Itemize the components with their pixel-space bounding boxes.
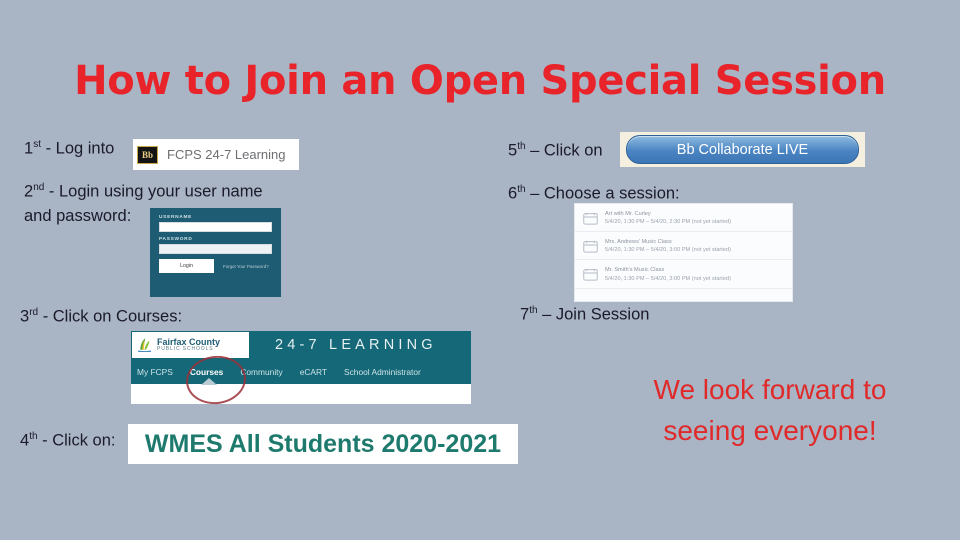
step-2-label-line2: and password: xyxy=(24,207,131,226)
bb-collaborate-live-button[interactable]: Bb Collaborate LIVE xyxy=(626,135,859,164)
step-7-suffix: th xyxy=(529,305,537,316)
nav-item-community[interactable]: Community xyxy=(240,367,282,377)
slide-canvas: How to Join an Open Special Session 1st … xyxy=(0,0,960,540)
session-schedule: 5/4/20, 1:30 PM – 5/4/20, 3:00 PM (not y… xyxy=(605,275,731,283)
site-brand-title: 24-7 LEARNING xyxy=(275,337,437,353)
step-3-label: 3rd - Click on Courses: xyxy=(20,307,182,327)
login-actions-row: Login Forgot Your Password? xyxy=(159,259,272,273)
session-list-item[interactable]: Art with Mr. Curley 5/4/20, 1:30 PM – 5/… xyxy=(575,204,792,232)
fcps-logo-line2: PUBLIC SCHOOLS xyxy=(157,347,220,352)
session-list-item[interactable]: Mr. Smith's Music Class 5/4/20, 1:30 PM … xyxy=(575,260,792,288)
blackboard-bb-icon: Bb xyxy=(137,146,158,164)
site-nav-bar: My FCPS Courses Community eCART School A… xyxy=(131,359,471,384)
step-3-ordinal: 3 xyxy=(20,308,29,326)
fcps-site-header-screenshot: Fairfax County PUBLIC SCHOOLS 24-7 LEARN… xyxy=(131,331,471,404)
step-1-label: 1st - Log into xyxy=(24,139,114,159)
closing-line-2: seeing everyone! xyxy=(600,411,940,452)
nav-item-ecart[interactable]: eCART xyxy=(300,367,327,377)
step-4-ordinal: 4 xyxy=(20,432,29,450)
step-4-suffix: th xyxy=(29,431,37,442)
step-7-text: – Join Session xyxy=(542,306,649,324)
step-6-ordinal: 6 xyxy=(508,185,517,203)
page-title: How to Join an Open Special Session xyxy=(0,58,960,104)
login-button[interactable]: Login xyxy=(159,259,214,273)
course-link-screenshot: WMES All Students 2020-2021 xyxy=(128,424,518,464)
closing-line-1: We look forward to xyxy=(600,370,940,411)
session-schedule: 5/4/20, 1:30 PM – 5/4/20, 3:00 PM (not y… xyxy=(605,246,731,254)
password-label: PASSWORD xyxy=(159,237,272,242)
session-title: Mrs. Andrews' Music Class xyxy=(605,238,731,246)
session-list-item[interactable]: Mrs. Andrews' Music Class 5/4/20, 1:30 P… xyxy=(575,232,792,260)
fcps-chip-label: FCPS 24-7 Learning xyxy=(167,147,286,162)
step-2-text-line1: - Login using your user name xyxy=(49,183,263,201)
step-4-label: 4th - Click on: xyxy=(20,431,115,451)
calendar-icon xyxy=(583,212,598,225)
step-3-suffix: rd xyxy=(29,307,38,318)
session-text-block: Mrs. Andrews' Music Class 5/4/20, 1:30 P… xyxy=(605,238,731,254)
step-5-suffix: th xyxy=(517,141,525,152)
step-6-text: – Choose a session: xyxy=(530,185,680,203)
step-2-label-line1: 2nd - Login using your user name xyxy=(24,182,263,202)
step-7-ordinal: 7 xyxy=(520,306,529,324)
step-2-suffix: nd xyxy=(33,182,44,193)
step-1-text: - Log into xyxy=(46,140,115,158)
session-list[interactable]: Art with Mr. Curley 5/4/20, 1:30 PM – 5/… xyxy=(574,203,793,302)
step-1-ordinal: 1 xyxy=(24,140,33,158)
password-input[interactable] xyxy=(159,244,272,254)
fcps-logo: Fairfax County PUBLIC SCHOOLS xyxy=(132,332,249,358)
step-3-text: - Click on Courses: xyxy=(43,308,182,326)
site-header-bar: Fairfax County PUBLIC SCHOOLS 24-7 LEARN… xyxy=(131,331,471,359)
calendar-icon xyxy=(583,240,598,253)
closing-message: We look forward to seeing everyone! xyxy=(600,370,940,451)
step-2-ordinal: 2 xyxy=(24,183,33,201)
calendar-icon xyxy=(583,268,598,281)
step-7-label: 7th – Join Session xyxy=(520,305,649,325)
session-title: Art with Mr. Curley xyxy=(605,210,731,218)
fcps-leaf-icon xyxy=(136,337,153,354)
session-title: Mr. Smith's Music Class xyxy=(605,266,731,274)
forgot-password-link[interactable]: Forgot Your Password? xyxy=(223,264,269,269)
login-panel: USERNAME PASSWORD Login Forgot Your Pass… xyxy=(150,208,281,297)
site-content-strip xyxy=(131,384,471,404)
step-6-label: 6th – Choose a session: xyxy=(508,184,680,204)
fcps-24-7-learning-chip[interactable]: Bb FCPS 24-7 Learning xyxy=(133,139,299,170)
nav-item-school-administrator[interactable]: School Administrator xyxy=(344,367,421,377)
step-1-suffix: st xyxy=(33,139,41,150)
username-label: USERNAME xyxy=(159,215,272,220)
fcps-logo-text: Fairfax County PUBLIC SCHOOLS xyxy=(157,338,220,352)
session-schedule: 5/4/20, 1:30 PM – 5/4/20, 2:30 PM (not y… xyxy=(605,218,731,226)
step-4-text: - Click on: xyxy=(42,432,115,450)
session-text-block: Art with Mr. Curley 5/4/20, 1:30 PM – 5/… xyxy=(605,210,731,226)
username-input[interactable] xyxy=(159,222,272,232)
step-6-suffix: th xyxy=(517,184,525,195)
session-text-block: Mr. Smith's Music Class 5/4/20, 1:30 PM … xyxy=(605,266,731,282)
step-5-label: 5th – Click on xyxy=(508,141,603,161)
course-link-wmes-all-students[interactable]: WMES All Students 2020-2021 xyxy=(145,430,501,459)
step-5-text: – Click on xyxy=(530,142,602,160)
nav-item-my-fcps[interactable]: My FCPS xyxy=(137,367,173,377)
collaborate-button-screenshot: Bb Collaborate LIVE xyxy=(620,132,865,167)
step-5-ordinal: 5 xyxy=(508,142,517,160)
